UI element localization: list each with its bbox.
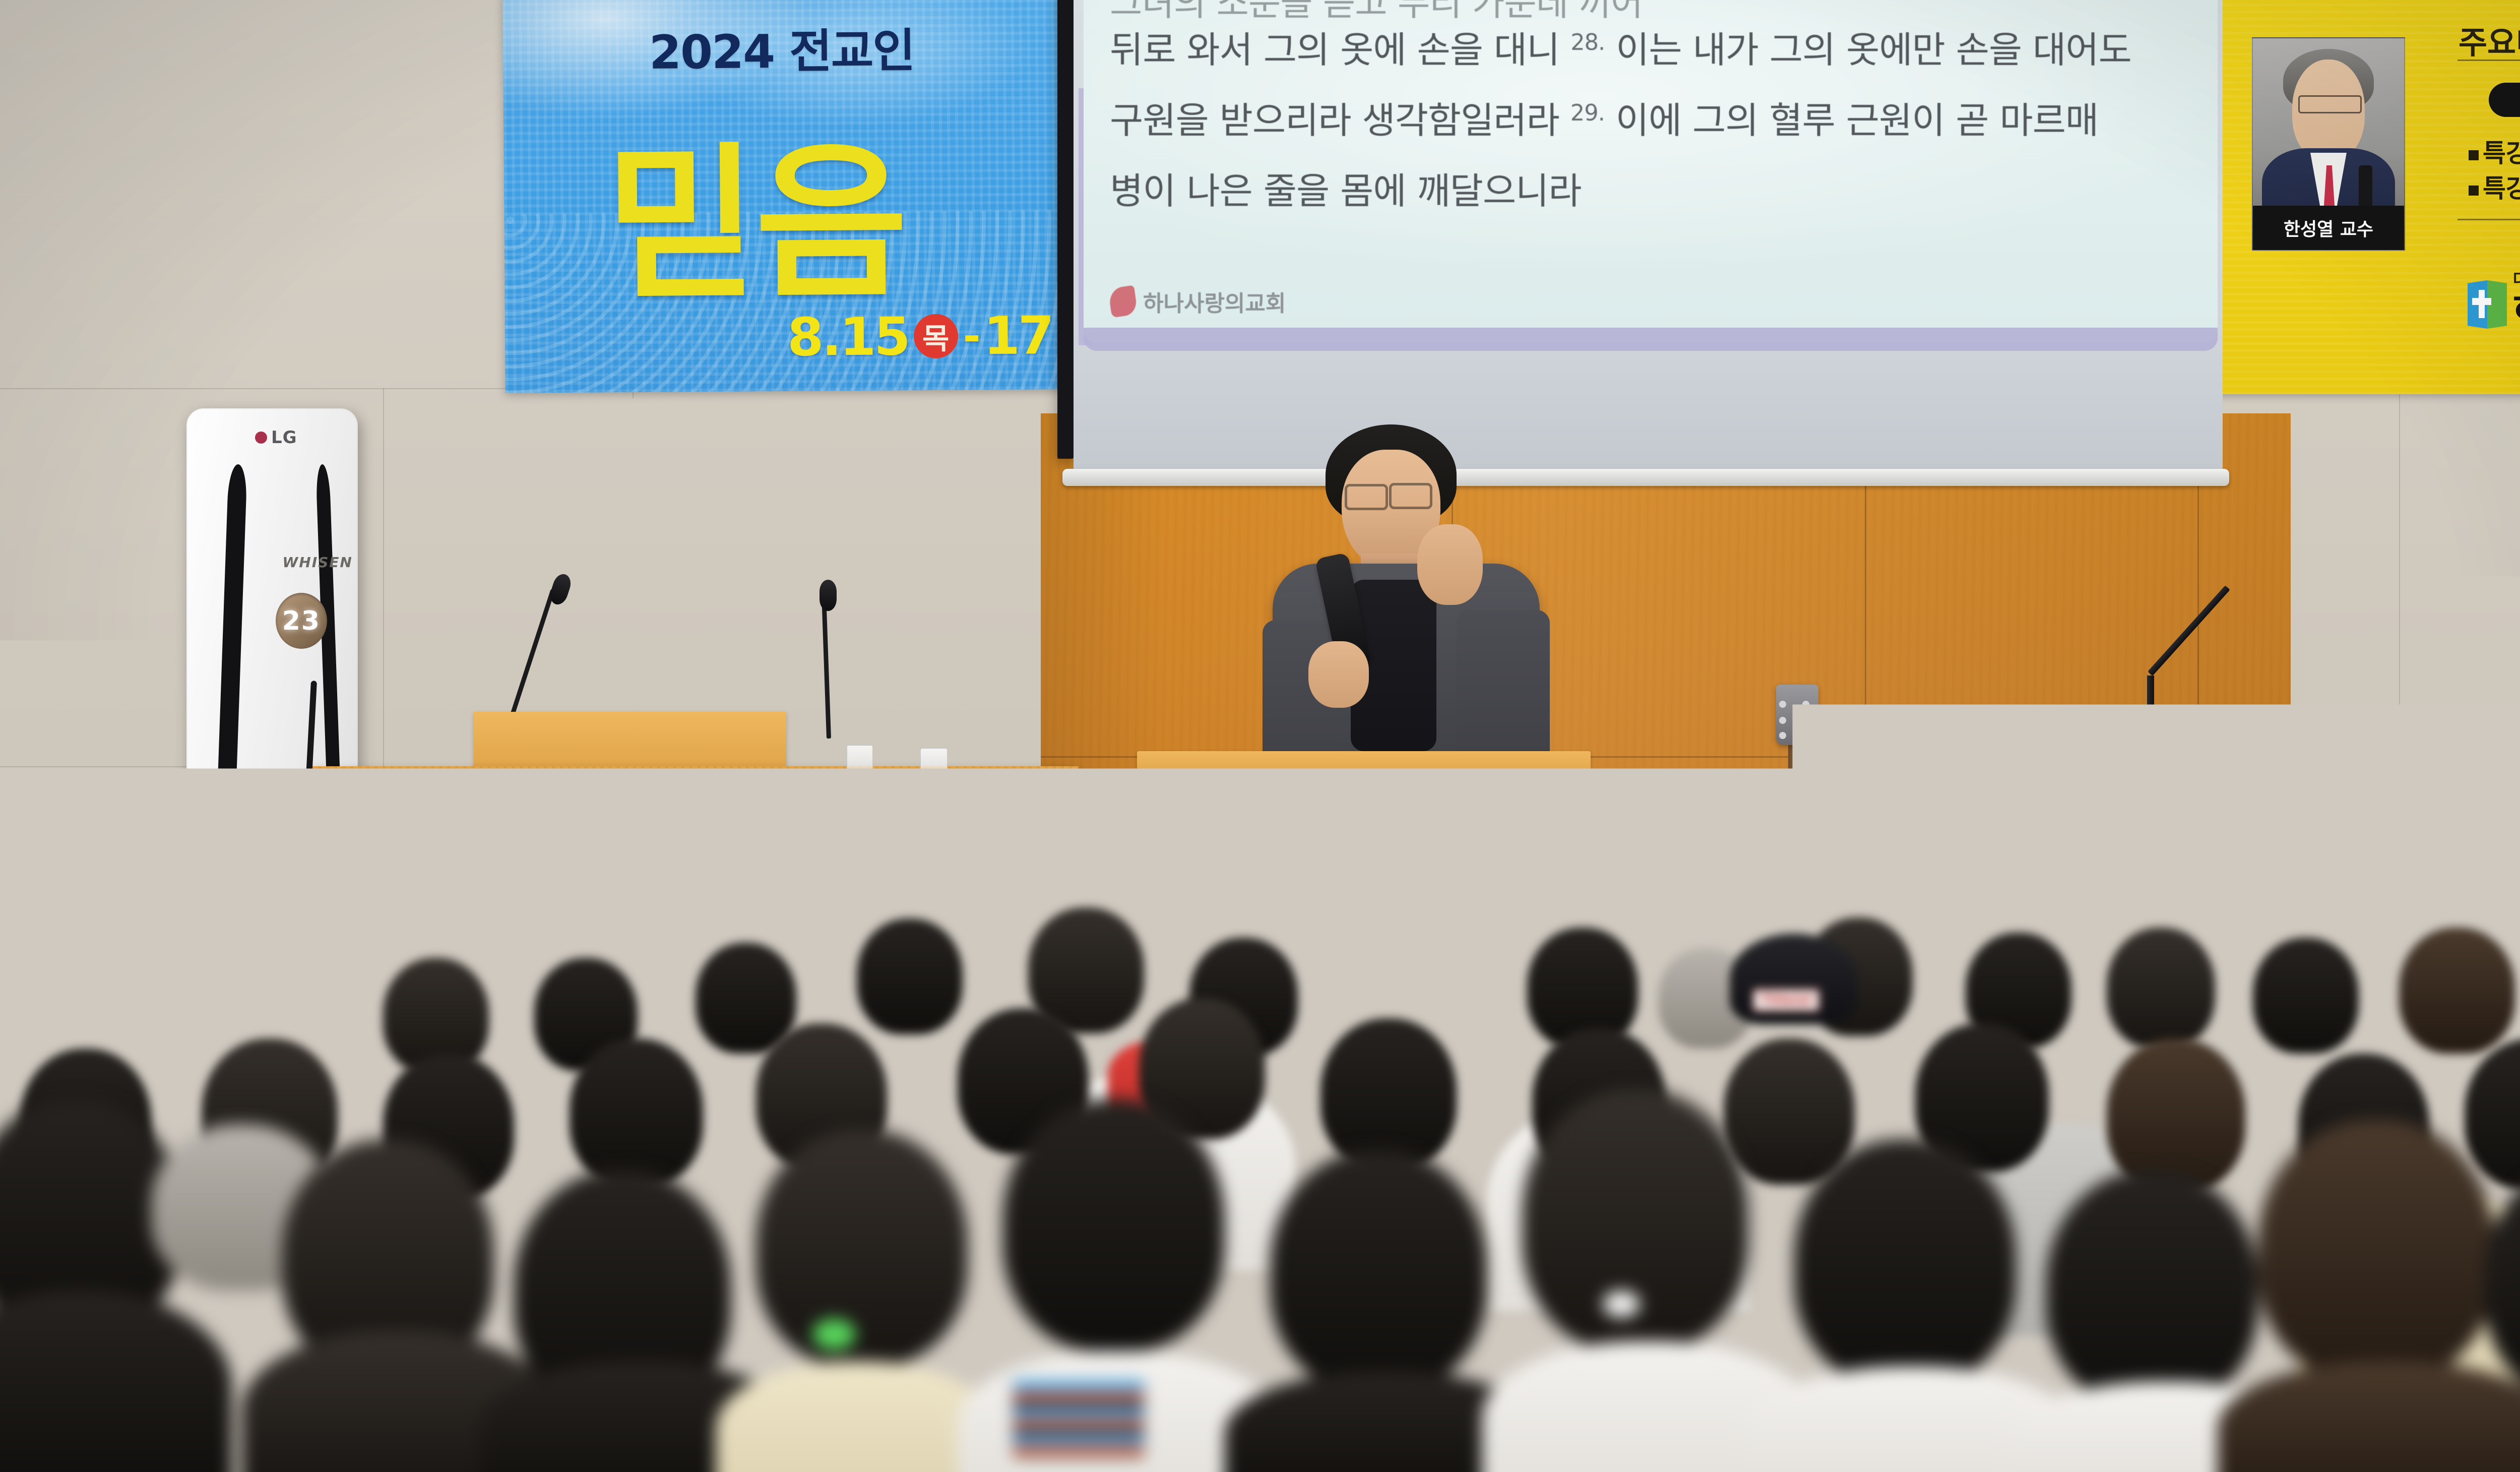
wall-seam [2399,353,2400,1008]
pulpit-front-panel [1159,777,1562,876]
water-bottle-right [920,748,948,780]
portrait-glasses-icon [2298,95,2362,113]
guitar-tuner-icon [1779,717,1786,724]
mic-stand-pole [2147,676,2154,958]
guitar-tuner-icon [1779,701,1786,708]
speaker-glasses-left-icon [1345,484,1388,510]
slide-church-name: 하나사랑의교회 [1143,285,1286,318]
presentation-slide: 그녀의 소문을 듣고 무리 가운데 끼어 뒤로 와서 그의 옷에 손을 대니 2… [1084,0,2218,343]
screen-left-edge [1057,0,1074,459]
audience-head [1724,1038,1855,1185]
tablet-music-display[interactable] [2182,721,2293,807]
slide-text-line-3: 병이 나은 줄을 몸에 깨달으니라 [1110,161,1582,214]
audience-head [570,1038,703,1187]
cap-brand-logo: Titleist [1753,989,1819,1011]
guitar-tuner-icon [1802,717,1809,724]
wooden-table-top [310,766,1079,862]
divider-line [2458,59,2520,61]
striped-shirt-pattern [1013,1381,1144,1457]
ac-vent-left [213,464,247,923]
guitar-tuner-icon [1802,701,1809,708]
program-item-0: 특강(재정) [2469,133,2520,169]
pulpit-top-ledge [1137,751,1591,777]
ac-control-panel[interactable]: 23 [276,593,327,649]
slide-text-line-2: 구원을 받으리라 생각함일러라 29. 이에 그의 혈루 근원이 곧 마르매 [1110,91,2098,144]
date-end: 17 [983,304,1053,366]
speaker-gesturing-hand [1417,524,1483,605]
blue-event-banner: 2024 전교인 믿음 8.15 목 - 17 토 [502,0,1069,393]
audience-head-foreground [2046,1170,2258,1406]
banner-year-text: 2024 전교인 [649,13,915,82]
guitar-tuner-icon [1779,732,1786,739]
date-start-day-pill: 목 [913,314,958,359]
audience-head-foreground [756,1129,968,1366]
bullet-square-icon [2469,186,2479,196]
date-start: 8.15 [787,305,909,368]
white-hair-tie [1603,1291,1640,1318]
table-riser-top [474,712,786,771]
cross-flag-icon [2468,280,2507,329]
audience-head [1320,1018,1457,1170]
ac-temperature-display: 23 [282,606,321,636]
speaker-portrait-photo: 한성열 교수 [2252,37,2405,251]
speaker-glasses-right-icon [1389,483,1432,509]
bullet-square-icon [2469,150,2479,160]
speaker-hand-holding-mic [1308,641,1369,708]
screen-bottom-bar [1062,469,2229,486]
audience-head-foreground [1794,1139,2016,1386]
program-section-title: 주요내용 [2459,17,2520,63]
program-item-1: 특강(마음) [2469,168,2520,205]
banner-date-row: 8.15 목 - 17 토 [787,304,1070,368]
slide-footer-logo: 하나사랑의교회 [1110,285,1286,318]
audience-head [2107,928,2215,1049]
audience-head [2399,928,2515,1054]
divider-line [2458,219,2520,220]
guitar-tuner-icon [1802,732,1809,739]
audience-head-foreground [1003,1099,1225,1351]
audience-head-foreground [1270,1149,1487,1391]
gooseneck-microphone-head-right [820,580,837,611]
audience-head [2107,1038,2245,1192]
denomination-text: 대한예수교장로회 [2513,271,2520,288]
wood-wall-seam [1865,413,1866,1270]
audience-head [857,918,963,1034]
green-hair-tie [812,1319,856,1350]
date-separator: - [963,311,979,360]
whisen-model-label: WHISEN [282,554,352,571]
water-bottle-left [847,745,873,777]
lg-air-conditioner: LG WHISEN 23 [186,408,358,968]
slide-text-line-1: 뒤로 와서 그의 옷에 손을 대니 28. 이는 내가 그의 옷에만 손을 대어… [1110,20,2131,73]
flame-icon [1108,285,1138,318]
yellow-program-banner: 주요내용 주강사 특강(재정) 특강(마음) 한성열 교수 대한예수교 [2217,0,2520,394]
ac-eco-badge-icon [321,934,351,951]
audience-head [2253,938,2359,1054]
banner-headline: 믿음 [604,88,906,331]
slide-bottom-border [1084,328,2218,351]
main-speaker-chip: 주강사 [2489,83,2520,117]
lg-mark-icon [255,432,267,444]
portrait-caption: 한성열 교수 [2253,206,2404,250]
lg-logo: LG [255,427,297,448]
photograph-scene: 2024 전교인 믿음 8.15 목 - 17 토 주요내용 주강사 특강(재정… [0,0,2520,1472]
church-logo: 대한예수교장로회 하나사 [2468,271,2520,329]
audience-head-foreground [2258,1119,2495,1381]
church-name-text: 하나사 [2513,291,2520,329]
